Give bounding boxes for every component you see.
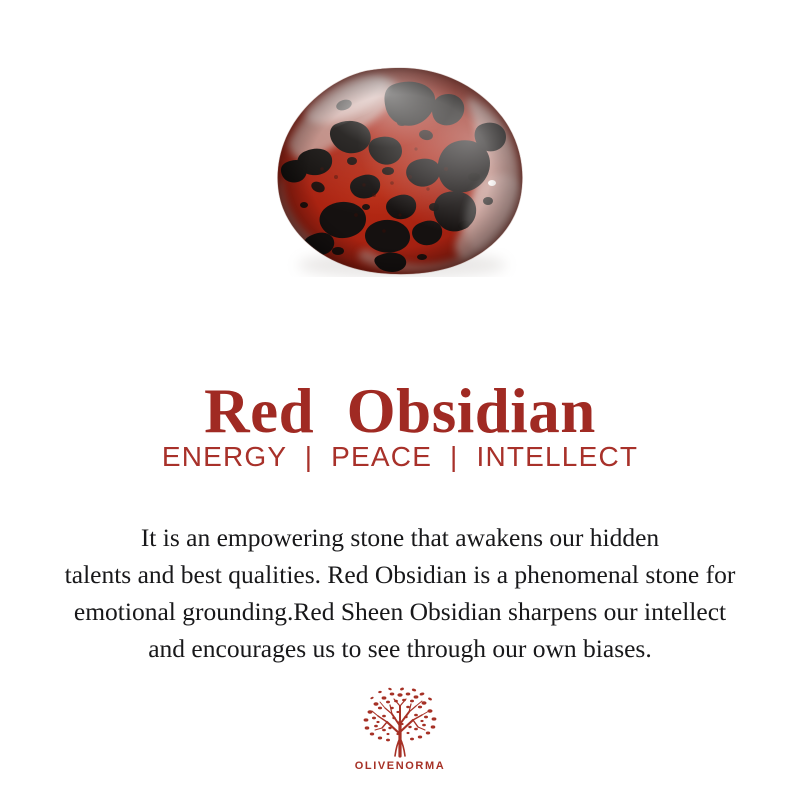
- description-line: talents and best qualities. Red Obsidian…: [0, 556, 800, 593]
- brand-logo: OLIVENORMA: [0, 686, 800, 772]
- page-title: Red Obsidian: [0, 375, 800, 447]
- description-line: and encourages us to see through our own…: [0, 630, 800, 667]
- description-line: emotional grounding.Red Sheen Obsidian s…: [0, 593, 800, 630]
- brand-wordmark: OLIVENORMA: [355, 760, 446, 772]
- tree-icon: [354, 686, 446, 758]
- stone-body: [274, 65, 526, 277]
- description-line: It is an empowering stone that awakens o…: [0, 519, 800, 556]
- description-paragraph: It is an empowering stone that awakens o…: [0, 519, 800, 667]
- keyword-subtitle: ENERGY | PEACE | INTELLECT: [0, 440, 800, 474]
- red-obsidian-stone-image: [274, 65, 526, 277]
- product-info-card: Red Obsidian ENERGY | PEACE | INTELLECT …: [0, 0, 800, 800]
- stone-image-container: [0, 62, 800, 280]
